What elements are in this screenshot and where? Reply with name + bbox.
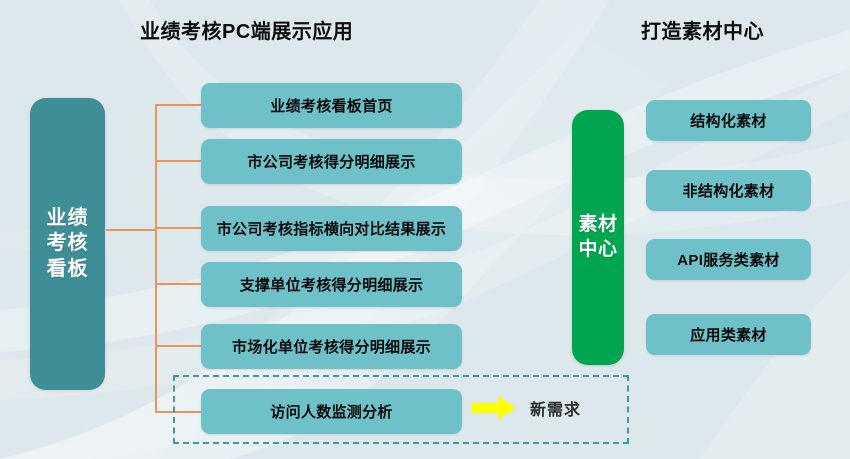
right-item-label: API服务类素材 — [677, 249, 779, 270]
new-requirement-note-label: 新需求 — [530, 396, 581, 420]
right-item-label: 非结构化素材 — [683, 180, 775, 201]
connector-branch-4 — [155, 283, 202, 285]
left-item-market-unit-score-detail[interactable]: 市场化单位考核得分明细展示 — [201, 324, 462, 369]
right-arrow-glyph — [472, 395, 516, 421]
connector-branch-3 — [155, 227, 202, 229]
left-item-label: 业绩考核看板首页 — [270, 95, 392, 116]
left-item-label: 访问人数监测分析 — [270, 401, 392, 422]
left-item-label: 支撑单位考核得分明细展示 — [240, 274, 424, 295]
left-item-label: 市公司考核得分明细展示 — [247, 151, 415, 172]
left-item-support-unit-score-detail[interactable]: 支撑单位考核得分明细展示 — [201, 262, 462, 307]
connector-branch-2 — [155, 160, 202, 162]
right-item-unstructured-material[interactable]: 非结构化素材 — [646, 170, 811, 211]
connector-stem — [155, 104, 157, 413]
connector-branch-5 — [155, 345, 202, 347]
left-item-city-company-score-detail[interactable]: 市公司考核得分明细展示 — [201, 139, 462, 184]
left-pillar-performance-dashboard[interactable]: 业绩 考核 看板 — [30, 98, 105, 390]
right-item-structured-material[interactable]: 结构化素材 — [646, 100, 811, 141]
right-pillar-material-center[interactable]: 素材 中心 — [572, 110, 624, 365]
right-item-label: 应用类素材 — [690, 324, 767, 345]
right-arrow-icon — [472, 395, 516, 421]
left-item-visitor-count-monitoring[interactable]: 访问人数监测分析 — [201, 389, 462, 434]
left-item-label: 市场化单位考核得分明细展示 — [232, 336, 431, 357]
right-section-title: 打造素材中心 — [641, 15, 764, 44]
connector-branch-1 — [155, 104, 202, 106]
connector-trunk — [106, 229, 156, 231]
diagram-canvas: 业绩考核PC端展示应用 打造素材中心 业绩 考核 看板 业绩考核看板首页 市公司… — [0, 0, 850, 459]
left-item-label: 市公司考核指标横向对比结果展示 — [217, 218, 447, 239]
right-item-api-service-material[interactable]: API服务类素材 — [646, 239, 811, 280]
left-section-title: 业绩考核PC端展示应用 — [140, 15, 353, 44]
left-pillar-label: 业绩 考核 看板 — [47, 206, 89, 283]
right-item-label: 结构化素材 — [690, 110, 767, 131]
right-pillar-label: 素材 中心 — [578, 213, 617, 262]
left-item-city-company-index-comparison[interactable]: 市公司考核指标横向对比结果展示 — [201, 206, 462, 251]
right-item-application-material[interactable]: 应用类素材 — [646, 314, 811, 355]
left-item-dashboard-home[interactable]: 业绩考核看板首页 — [201, 83, 462, 128]
